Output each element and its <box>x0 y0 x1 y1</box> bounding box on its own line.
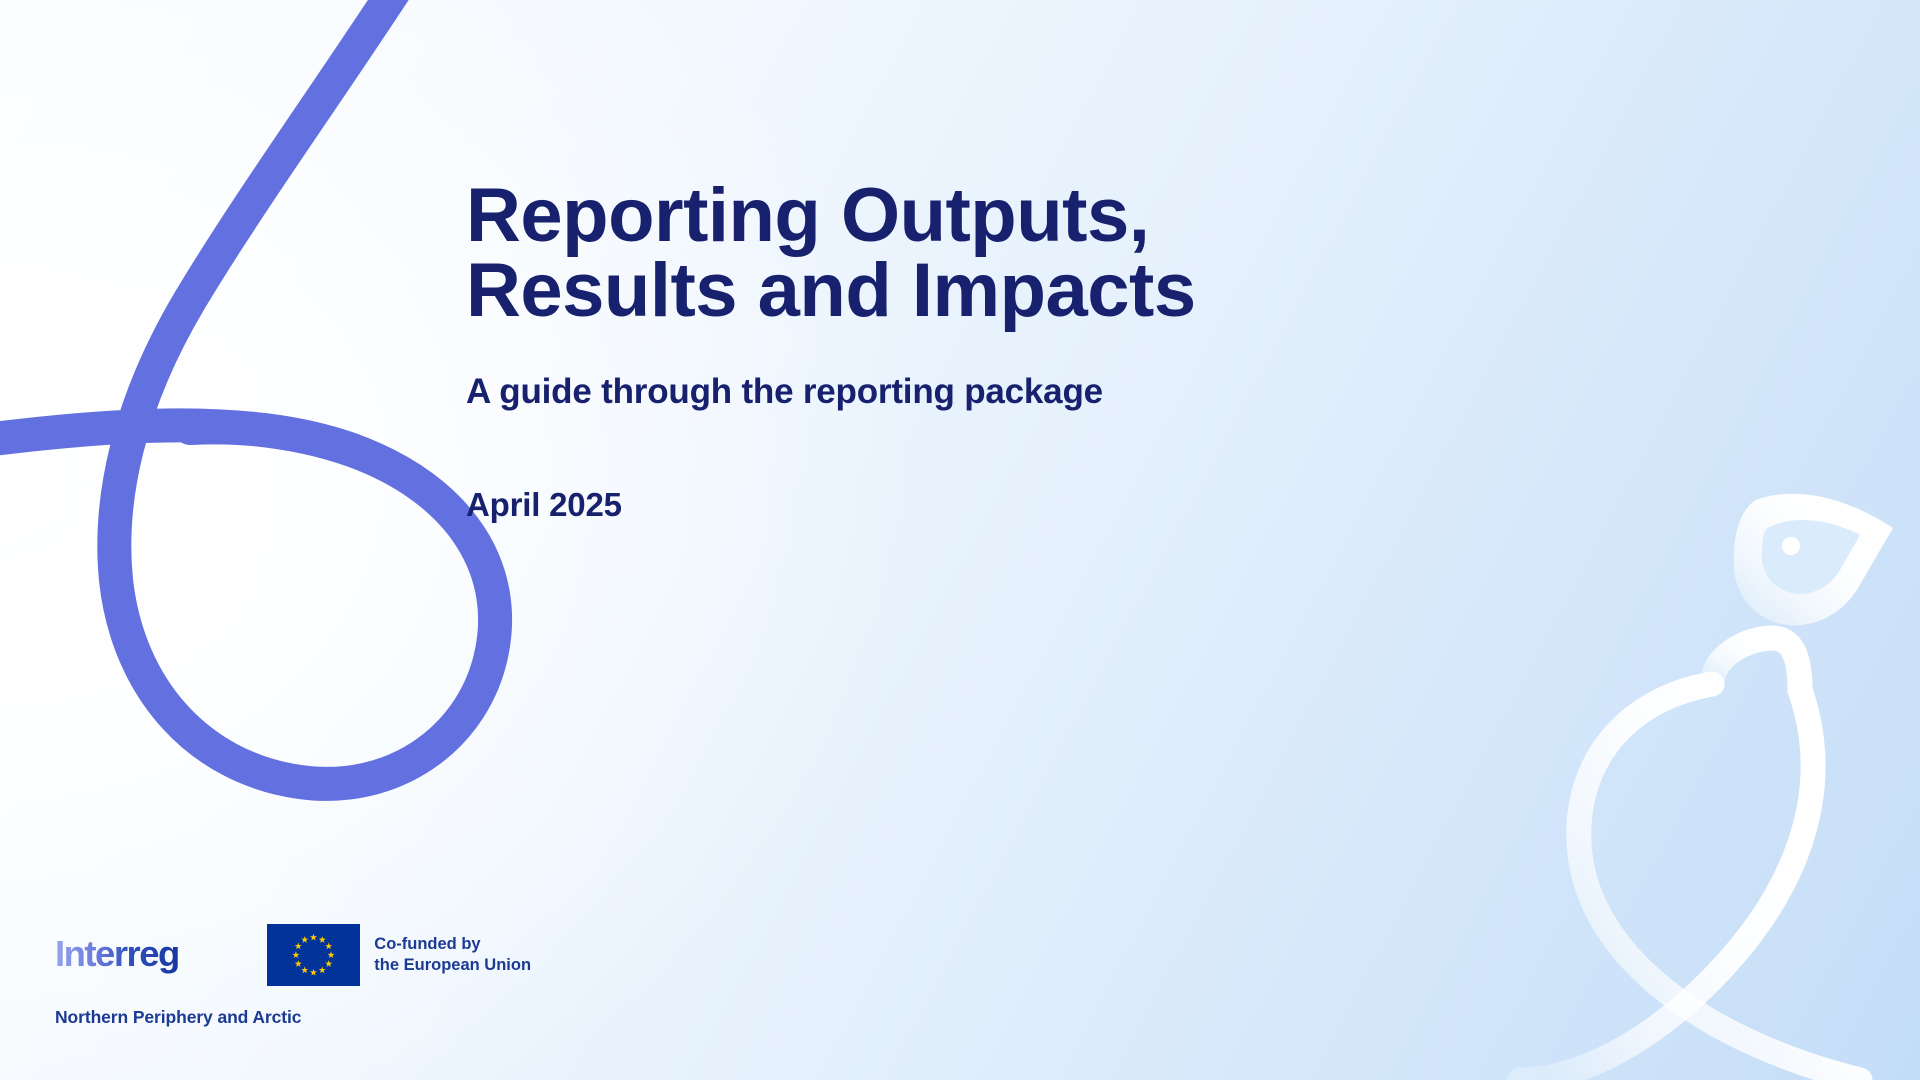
page-title: Reporting Outputs, Results and Impacts <box>466 178 1366 328</box>
ribbon-upper-stroke <box>0 0 495 784</box>
ribbon-loop-stroke <box>190 427 352 450</box>
slide-canvas: Reporting Outputs, Results and Impacts A… <box>0 0 1920 1080</box>
periwinkle-ribbon-decoration <box>0 0 1920 1080</box>
interreg-logo: Interreg <box>55 934 240 976</box>
footer-logo-lockup: Interreg <box>55 924 531 1028</box>
eu-flag-icon <box>267 924 360 986</box>
logo-row: Interreg <box>55 924 531 986</box>
eu-funding-label: Co-funded by the European Union <box>374 934 531 976</box>
bird-eye-icon <box>1782 537 1800 555</box>
interreg-wordmark-text: Interreg <box>55 934 179 974</box>
bird-head-icon <box>1734 494 1893 626</box>
bird-body-loop <box>1520 638 1860 1080</box>
title-block: Reporting Outputs, Results and Impacts A… <box>466 178 1366 524</box>
page-subtitle: A guide through the reporting package <box>466 328 1366 412</box>
bird-ribbon-decoration <box>0 0 1920 1080</box>
eu-emblem-lockup: Co-funded by the European Union <box>267 924 531 986</box>
programme-name-label: Northern Periphery and Arctic <box>55 1007 301 1028</box>
page-date: April 2025 <box>466 412 1366 524</box>
